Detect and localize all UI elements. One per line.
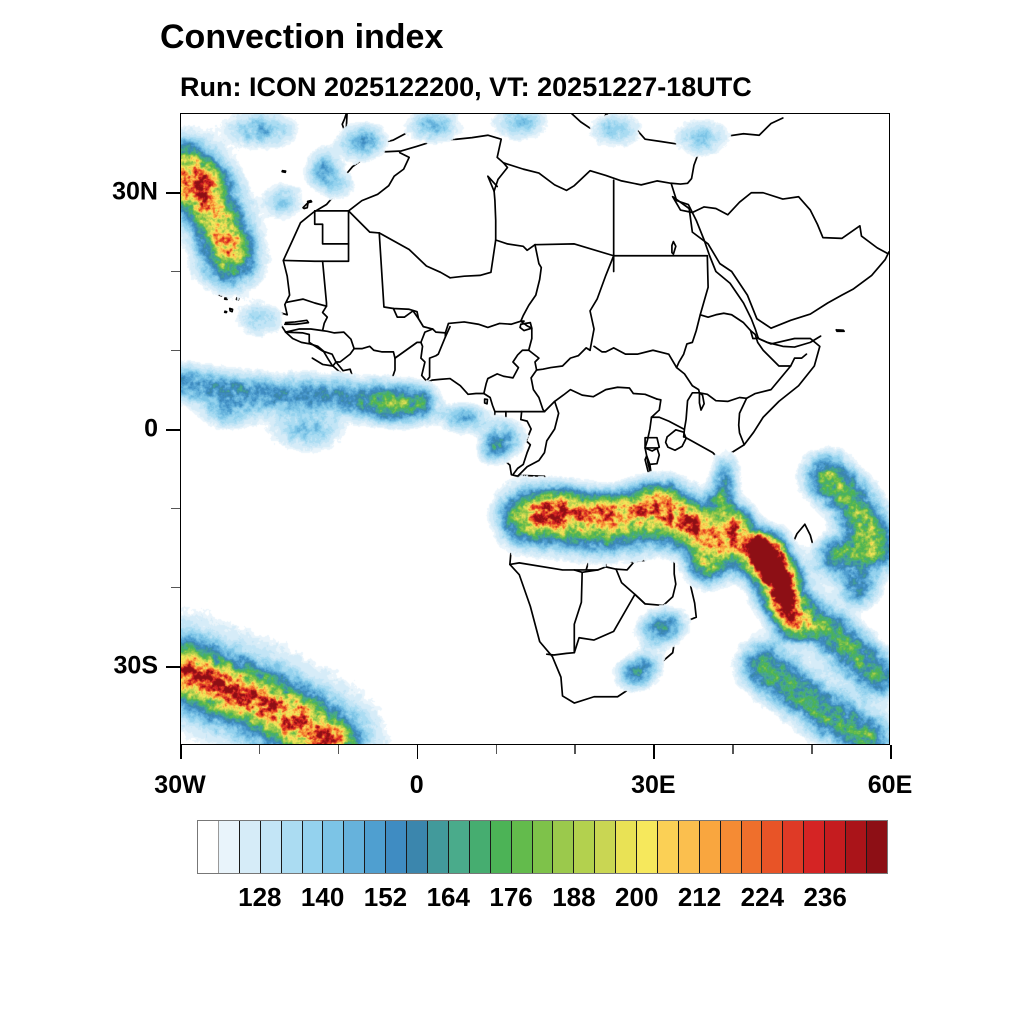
colorbar-cell: [679, 821, 700, 873]
x-tick-minor: [496, 745, 497, 754]
map-plot-area[interactable]: [180, 113, 890, 745]
colorbar-label-224: 224: [741, 882, 784, 913]
colorbar-cell: [762, 821, 783, 873]
x-axis-label-60E: 60E: [868, 771, 912, 800]
colorbar-label-212: 212: [678, 882, 721, 913]
y-tick-minor: [171, 350, 180, 351]
x-tick-major: [180, 745, 182, 759]
colorbar-cell: [783, 821, 804, 873]
colorbar-label-200: 200: [615, 882, 658, 913]
colorbar-label-236: 236: [803, 882, 846, 913]
x-axis-label-30E: 30E: [631, 771, 675, 800]
colorbar-cell: [533, 821, 554, 873]
x-tick-minor: [574, 745, 575, 754]
colorbar-label-152: 152: [364, 882, 407, 913]
x-tick-major: [890, 745, 892, 759]
colorbar-cell: [240, 821, 261, 873]
colorbar-cell: [616, 821, 637, 873]
run-valid-time-subtitle: Run: ICON 2025122200, VT: 20251227-18UTC: [180, 72, 752, 103]
colorbar-cell: [470, 821, 491, 873]
colorbar-cell: [428, 821, 449, 873]
y-axis-label-30N: 30N: [0, 178, 158, 207]
colorbar-cell: [512, 821, 533, 873]
colorbar-cell: [804, 821, 825, 873]
y-tick-minor: [171, 271, 180, 272]
x-axis-label-30W: 30W: [154, 771, 205, 800]
colorbar-cell: [365, 821, 386, 873]
x-axis-label-0: 0: [410, 771, 424, 800]
colorbar-cell: [846, 821, 867, 873]
y-tick-major: [166, 666, 180, 668]
colorbar-cell: [323, 821, 344, 873]
x-tick-minor: [259, 745, 260, 754]
colorbar-cell: [282, 821, 303, 873]
colorbar-cell: [867, 821, 887, 873]
y-tick-major: [166, 429, 180, 431]
colorbar-cell: [700, 821, 721, 873]
colorbar-cell: [574, 821, 595, 873]
colorbar-cell: [491, 821, 512, 873]
colorbar-tick-labels: 128140152164176188200212224236: [197, 882, 888, 916]
colorbar-cell: [386, 821, 407, 873]
y-axis-label-0: 0: [0, 415, 158, 444]
colorbar-cell: [721, 821, 742, 873]
page-title: Convection index: [160, 18, 443, 57]
colorbar-cell: [303, 821, 324, 873]
colorbar-label-164: 164: [427, 882, 470, 913]
colorbar-label-188: 188: [552, 882, 595, 913]
colorbar-cell: [344, 821, 365, 873]
x-tick-major: [653, 745, 655, 759]
colorbar-cell: [198, 821, 219, 873]
colorbar-cell: [595, 821, 616, 873]
colorbar-cell: [825, 821, 846, 873]
y-tick-minor: [171, 508, 180, 509]
colorbar-cell: [637, 821, 658, 873]
y-axis-label-30S: 30S: [0, 652, 158, 681]
colorbar-cell: [219, 821, 240, 873]
convection-index-field: [181, 114, 890, 745]
x-tick-minor: [732, 745, 733, 754]
x-tick-minor: [811, 745, 812, 754]
colorbar[interactable]: [197, 820, 888, 874]
colorbar-label-140: 140: [301, 882, 344, 913]
y-tick-major: [166, 192, 180, 194]
colorbar-cell: [742, 821, 763, 873]
colorbar-cell: [407, 821, 428, 873]
colorbar-cell: [658, 821, 679, 873]
x-tick-minor: [338, 745, 339, 754]
colorbar-cell: [553, 821, 574, 873]
y-tick-minor: [171, 587, 180, 588]
colorbar-label-128: 128: [238, 882, 281, 913]
colorbar-cell: [261, 821, 282, 873]
colorbar-cell: [449, 821, 470, 873]
colorbar-label-176: 176: [489, 882, 532, 913]
x-tick-major: [417, 745, 419, 759]
